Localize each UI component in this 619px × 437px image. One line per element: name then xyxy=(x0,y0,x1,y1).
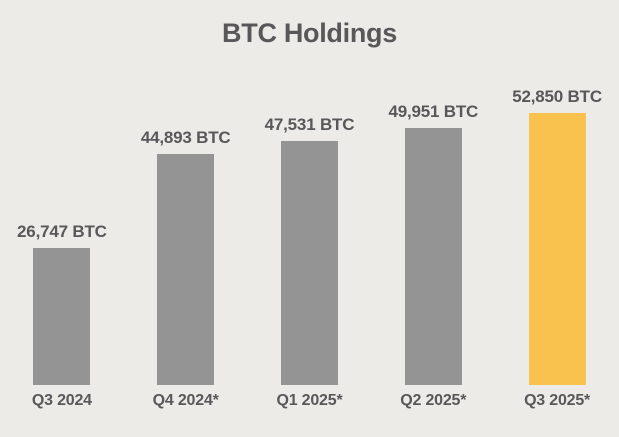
bar-group: 44,893 BTC xyxy=(129,60,242,385)
bar[interactable] xyxy=(405,128,462,385)
bar-group: 49,951 BTC xyxy=(377,60,490,385)
bar-group: 26,747 BTC xyxy=(5,60,118,385)
bar-value-label: 26,747 BTC xyxy=(17,222,107,242)
bar-value-label: 44,893 BTC xyxy=(141,128,231,148)
bar-value-label: 52,850 BTC xyxy=(512,87,602,107)
bar-group: 47,531 BTC xyxy=(253,60,366,385)
x-axis-labels: Q3 2024 Q4 2024* Q1 2025* Q2 2025* Q3 20… xyxy=(0,392,619,422)
bar[interactable] xyxy=(281,141,338,385)
x-axis-label: Q2 2025* xyxy=(377,392,490,410)
bar-value-label: 47,531 BTC xyxy=(265,115,355,135)
chart-title: BTC Holdings xyxy=(0,18,619,49)
btc-holdings-bar-chart: BTC Holdings 26,747 BTC 44,893 BTC 47,53… xyxy=(0,0,619,437)
plot-area: 26,747 BTC 44,893 BTC 47,531 BTC 49,951 … xyxy=(0,60,619,385)
bar[interactable] xyxy=(33,248,90,385)
x-axis-label: Q3 2024 xyxy=(5,392,118,410)
x-axis-label: Q4 2024* xyxy=(129,392,242,410)
x-axis-label: Q3 2025* xyxy=(501,392,614,410)
bar-group: 52,850 BTC xyxy=(501,60,614,385)
x-axis-label: Q1 2025* xyxy=(253,392,366,410)
bar-value-label: 49,951 BTC xyxy=(388,102,478,122)
bar[interactable] xyxy=(529,113,586,385)
bar[interactable] xyxy=(157,154,214,385)
